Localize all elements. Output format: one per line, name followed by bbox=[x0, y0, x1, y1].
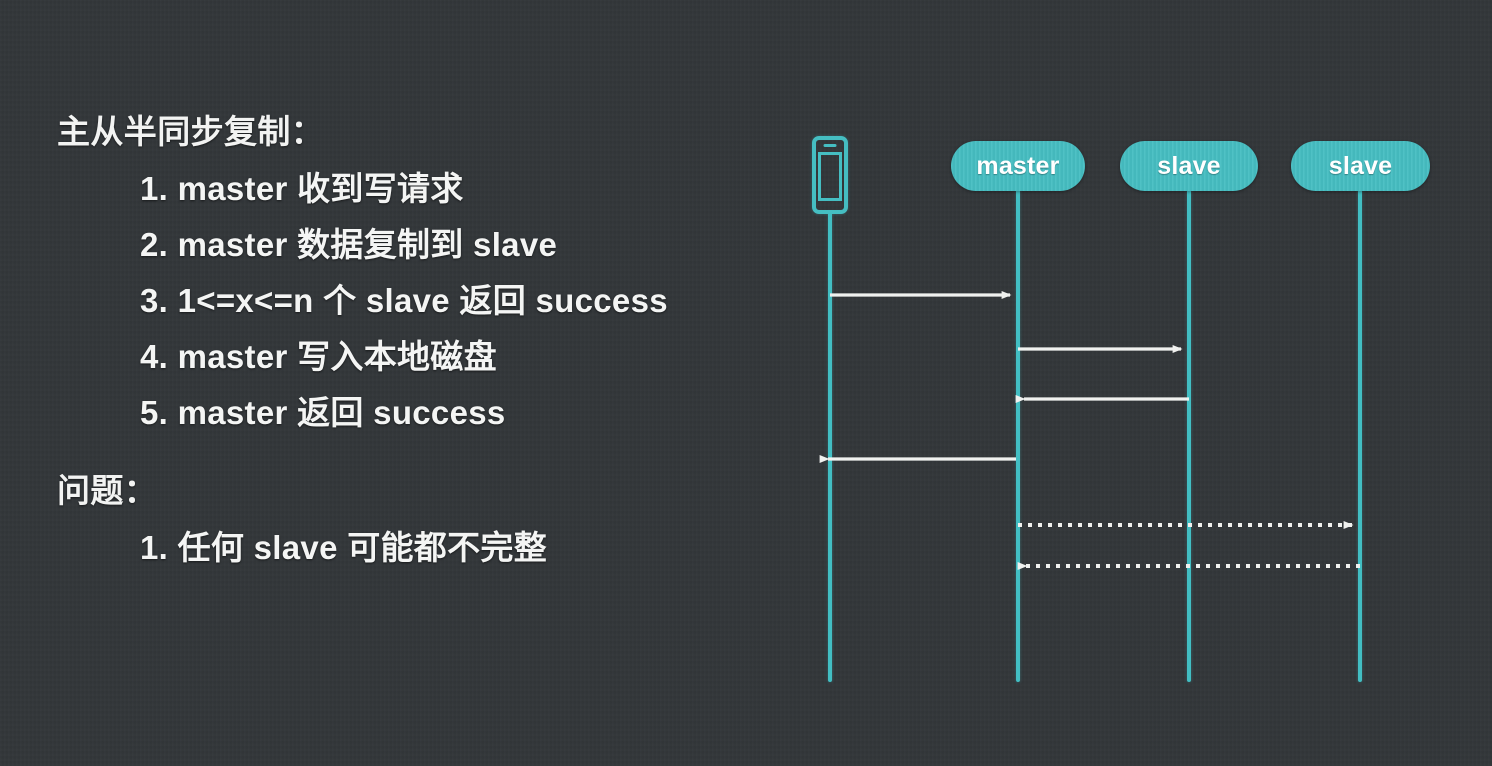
lifeline-slave-1 bbox=[1187, 186, 1191, 682]
lifeline-client bbox=[828, 212, 832, 682]
participant-master[interactable]: master bbox=[951, 141, 1085, 191]
sequence-diagram: master slave slave bbox=[0, 0, 1492, 766]
phone-speaker-icon bbox=[824, 144, 837, 147]
lifeline-master bbox=[1016, 186, 1020, 682]
participant-slave-2[interactable]: slave bbox=[1291, 141, 1430, 191]
lifeline-slave-2 bbox=[1358, 186, 1362, 682]
participant-slave-1[interactable]: slave bbox=[1120, 141, 1258, 191]
message-arrows bbox=[0, 0, 1492, 766]
participant-master-label: master bbox=[976, 152, 1059, 181]
participant-slave-1-label: slave bbox=[1157, 152, 1221, 181]
smartphone-icon bbox=[812, 136, 848, 214]
slide-canvas: 主从半同步复制： 1. master 收到写请求 2. master 数据复制到… bbox=[0, 0, 1492, 766]
phone-screen bbox=[818, 152, 842, 201]
participant-slave-2-label: slave bbox=[1329, 152, 1393, 181]
